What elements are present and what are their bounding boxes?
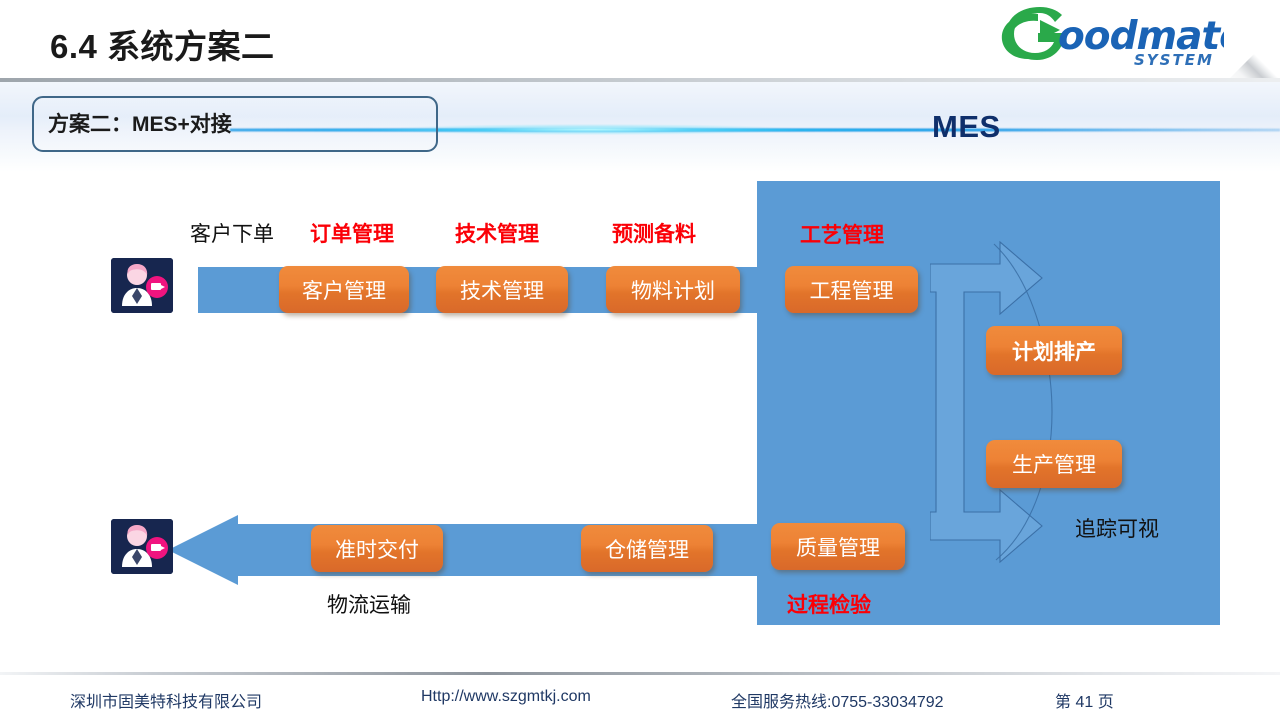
footer-website[interactable]: Http://www.szgmtkj.com: [421, 688, 591, 706]
top-label-2: 技术管理: [455, 218, 539, 248]
top-box-0[interactable]: 客户管理: [279, 266, 409, 313]
bottom-label-1: 过程检验: [787, 589, 871, 619]
bottom-box-2[interactable]: 质量管理: [771, 523, 905, 570]
footer-divider: [0, 672, 1280, 675]
bottom-box-1[interactable]: 仓储管理: [581, 525, 713, 572]
bottom-box-0[interactable]: 准时交付: [311, 525, 443, 572]
right-box-1[interactable]: 生产管理: [986, 440, 1122, 488]
top-box-3[interactable]: 工程管理: [785, 266, 918, 313]
banner-glow-highlight: [380, 124, 800, 135]
trace-label: 追踪可视: [1075, 513, 1159, 543]
footer-hotline: 全国服务热线:0755-33034792: [731, 688, 944, 712]
footer-company: 深圳市固美特科技有限公司: [70, 688, 262, 712]
top-label-0: 客户下单: [190, 218, 274, 248]
logo-svg: oodmate SYSTEM: [994, 4, 1224, 70]
top-label-1: 订单管理: [310, 218, 394, 248]
bottom-label-0: 物流运输: [327, 589, 411, 619]
top-box-1[interactable]: 技术管理: [436, 266, 568, 313]
slide-canvas: 6.4 系统方案二 oodmate SYSTEM 方案二：MES+对接 MES: [0, 0, 1280, 720]
top-box-2[interactable]: 物料计划: [606, 266, 740, 313]
goodmate-logo: oodmate SYSTEM: [994, 4, 1224, 70]
top-label-3: 预测备料: [612, 218, 696, 248]
customer-icon-top: [111, 258, 173, 313]
top-label-4: 工艺管理: [800, 219, 884, 249]
slide-header: 6.4 系统方案二 oodmate SYSTEM: [0, 0, 1280, 80]
footer-page-number: 第 41 页: [1055, 688, 1114, 712]
page-curl-decoration: [1224, 28, 1280, 84]
right-box-0[interactable]: 计划排产: [986, 326, 1122, 375]
svg-text:SYSTEM: SYSTEM: [1134, 51, 1214, 69]
customer-avatar-glyph-2: [111, 519, 173, 574]
mes-heading: MES: [932, 109, 1001, 145]
scheme-label: 方案二：MES+对接: [48, 108, 232, 138]
customer-avatar-glyph: [111, 258, 173, 313]
page-title: 6.4 系统方案二: [50, 20, 275, 68]
customer-icon-bottom: [111, 519, 173, 574]
